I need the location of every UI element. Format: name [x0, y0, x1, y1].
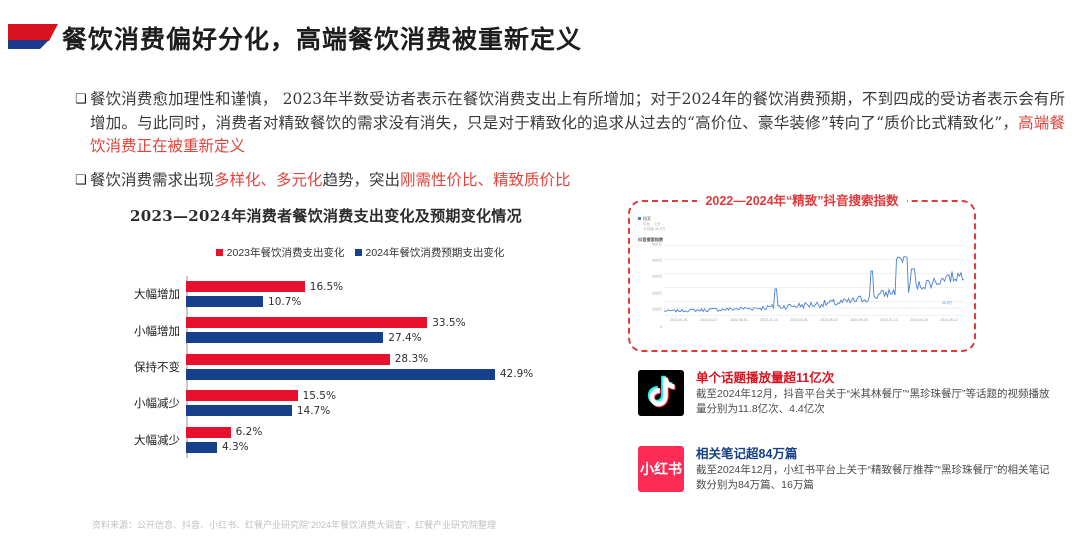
bullet-text-1: 餐饮消费愈加理性和谨慎， 2023年半数受访者表示在餐饮消费支出上有所增加；对于…	[90, 88, 1065, 159]
bullet-text-2: 餐饮消费需求出现多样化、多元化趋势，突出刚需性价比、精致质价比	[90, 169, 1065, 193]
chart-legend: 2023年餐饮消费支出变化 2024年餐饮消费预期支出变化	[100, 245, 620, 260]
mini-y-axis-title: 抖音搜索指数	[638, 237, 966, 243]
chart-plot-area: 大幅增加16.5%10.7%小幅增加33.5%27.4%保持不变28.3%42.…	[100, 276, 620, 458]
bar	[186, 390, 298, 401]
bullet-marker-icon: ❑	[75, 88, 90, 111]
douyin-index-screenshot: 搜索 同比 - 上升 - 平均值 45.5万 抖音搜索指数 500万400万30…	[638, 216, 966, 342]
mini-legend-sub-2: 平均值 45.5万	[643, 227, 966, 232]
bar	[186, 369, 495, 380]
bar-group: 保持不变28.3%42.9%	[186, 349, 620, 385]
bullet-item-1: ❑ 餐饮消费愈加理性和谨慎， 2023年半数受访者表示在餐饮消费支出上有所增加；…	[75, 88, 1065, 159]
platform-xiaohongshu-body: 相关笔记超84万篇 截至2024年12月，小红书平台上关于“精致餐厅推荐”“黑珍…	[696, 446, 1058, 492]
bar-value-label: 42.9%	[500, 368, 533, 380]
bar-row: 15.5%	[186, 390, 336, 401]
page-title: 餐饮消费偏好分化，高端餐饮消费被重新定义	[62, 20, 582, 56]
bar-group: 大幅减少6.2%4.3%	[186, 422, 620, 458]
mini-x-tick-label: 2024-08-12	[940, 318, 957, 322]
bar	[186, 354, 390, 365]
bar-category-label: 小幅减少	[100, 395, 180, 411]
bar-value-label: 14.7%	[297, 405, 330, 417]
bar-row: 16.5%	[186, 281, 343, 292]
bar-group: 小幅增加33.5%27.4%	[186, 312, 620, 348]
douyin-index-title: 2022—2024年“精致”抖音搜索指数	[697, 190, 906, 209]
platform-xiaohongshu-heading: 相关笔记超84万篇	[696, 446, 1058, 462]
bullet-2-body-a: 餐饮消费需求出现	[90, 171, 214, 189]
bar	[186, 296, 263, 307]
platform-item-xiaohongshu: 小红书 相关笔记超84万篇 截至2024年12月，小红书平台上关于“精致餐厅推荐…	[638, 446, 1058, 492]
platform-douyin-body: 单个话题播放量超11亿次 截至2024年12月，抖音平台关于“米其林餐厅”“黑珍…	[696, 370, 1058, 416]
platform-douyin-heading: 单个话题播放量超11亿次	[696, 370, 1058, 386]
bar-value-label: 4.3%	[222, 441, 249, 453]
mini-gridline	[664, 315, 964, 316]
bar-value-label: 10.7%	[268, 296, 301, 308]
bar-row: 33.5%	[186, 317, 466, 328]
legend-label-0: 2023年餐饮消费支出变化	[227, 245, 345, 260]
bar-row: 6.2%	[186, 427, 262, 438]
mini-x-tick-label: 2022-04-17	[700, 318, 717, 322]
mini-legend-dot-icon	[638, 217, 641, 220]
bar-value-label: 6.2%	[236, 426, 263, 438]
bar	[186, 405, 292, 416]
bullet-marker-icon: ❑	[75, 169, 90, 192]
bar-value-label: 27.4%	[388, 332, 421, 344]
mini-x-tick-label: 2024-01-13	[880, 318, 897, 322]
platform-item-douyin: 单个话题播放量超11亿次 截至2024年12月，抖音平台关于“米其林餐厅”“黑珍…	[638, 370, 1058, 416]
bar-row: 4.3%	[186, 442, 249, 453]
mini-x-ticks: 2022-01-012022-04-172022-08-012022-11-15…	[664, 317, 964, 327]
platform-xiaohongshu-description: 截至2024年12月，小红书平台上关于“精致餐厅推荐”“黑珍珠餐厅”的相关笔记数…	[696, 463, 1058, 492]
mini-x-tick-label: 2023-09-29	[850, 318, 867, 322]
bar	[186, 332, 383, 343]
source-note: 资料来源：公开信息、抖音、小红书、红餐产业研究院“2024年餐饮消费大调查”，红…	[92, 518, 496, 531]
bar-row: 27.4%	[186, 332, 422, 343]
bar-value-label: 33.5%	[432, 317, 465, 329]
bullet-list: ❑ 餐饮消费愈加理性和谨慎， 2023年半数受访者表示在餐饮消费支出上有所增加；…	[75, 88, 1065, 202]
mini-y-tick-label: 400万	[652, 258, 662, 263]
mini-x-tick-label: 2022-08-01	[730, 318, 747, 322]
bar-row: 42.9%	[186, 369, 533, 380]
tiktok-note-icon	[638, 370, 684, 416]
mini-annotation: 45.5万	[942, 300, 952, 305]
mini-y-tick-label: 500万	[652, 242, 662, 247]
mini-x-tick-label: 2022-01-01	[670, 318, 687, 322]
chart-title: 2023—2024年消费者餐饮消费支出变化及预期变化情况	[100, 205, 620, 226]
bullet-item-2: ❑ 餐饮消费需求出现多样化、多元化趋势，突出刚需性价比、精致质价比	[75, 169, 1065, 193]
mini-y-tick-label: 100万	[652, 308, 662, 313]
bullet-2-body-b: 趋势，突出	[323, 171, 401, 189]
legend-label-1: 2024年餐饮消费预期支出变化	[366, 245, 505, 260]
spending-change-chart: 2023—2024年消费者餐饮消费支出变化及预期变化情况 2023年餐饮消费支出…	[100, 205, 620, 490]
bullet-2-highlight-a: 多样化、多元化	[214, 171, 323, 189]
bar-row: 28.3%	[186, 354, 428, 365]
bar-group: 小幅减少15.5%14.7%	[186, 385, 620, 421]
bar-category-label: 小幅增加	[100, 323, 180, 339]
bar	[186, 442, 217, 453]
bullet-1-body: 餐饮消费愈加理性和谨慎， 2023年半数受访者表示在餐饮消费支出上有所增加；对于…	[90, 90, 1065, 132]
legend-swatch-blue	[355, 249, 362, 256]
bar-group: 大幅增加16.5%10.7%	[186, 276, 620, 312]
bar-row: 14.7%	[186, 405, 330, 416]
mini-plot: 500万400万300万200万100万0 2022-01-012022-04-…	[638, 245, 966, 327]
mini-line-series	[664, 245, 964, 315]
mini-x-tick-label: 2024-04-28	[910, 318, 927, 322]
mini-x-tick-label: 2022-11-15	[760, 318, 777, 322]
tiktok-douyin-logo	[638, 370, 684, 416]
bullet-2-highlight-b: 刚需性价比、精致质价比	[400, 171, 571, 189]
bar-value-label: 28.3%	[395, 353, 428, 365]
bar	[186, 317, 427, 328]
mini-y-ticks: 500万400万300万200万100万0	[638, 245, 664, 327]
bar-row: 10.7%	[186, 296, 301, 307]
douyin-index-callout: 2022—2024年“精致”抖音搜索指数 搜索 同比 - 上升 - 平均值 45…	[628, 200, 976, 352]
mini-y-tick-label: 300万	[652, 275, 662, 280]
bar	[186, 281, 305, 292]
logo-red-band	[8, 24, 58, 41]
mini-x-tick-label: 2023-06-15	[820, 318, 837, 322]
platform-douyin-description: 截至2024年12月，抖音平台关于“米其林餐厅”“黑珍珠餐厅”等话题的视频播放量…	[696, 387, 1058, 416]
bar-value-label: 15.5%	[303, 390, 336, 402]
legend-swatch-red	[216, 249, 223, 256]
mini-y-tick-label: 0	[660, 325, 662, 329]
bar-category-label: 保持不变	[100, 359, 180, 375]
mini-legend-label: 搜索	[643, 216, 651, 221]
legend-entry-0: 2023年餐饮消费支出变化	[216, 245, 345, 260]
bar-value-label: 16.5%	[310, 281, 343, 293]
brand-logo	[8, 24, 58, 50]
mini-x-tick-label: 2023-03-01	[790, 318, 807, 322]
bar-category-label: 大幅减少	[100, 432, 180, 448]
mini-y-tick-label: 200万	[652, 291, 662, 296]
legend-entry-1: 2024年餐饮消费预期支出变化	[355, 245, 505, 260]
logo-blue-band	[8, 40, 58, 49]
bar	[186, 427, 231, 438]
xiaohongshu-logo: 小红书	[638, 446, 684, 492]
bar-category-label: 大幅增加	[100, 286, 180, 302]
